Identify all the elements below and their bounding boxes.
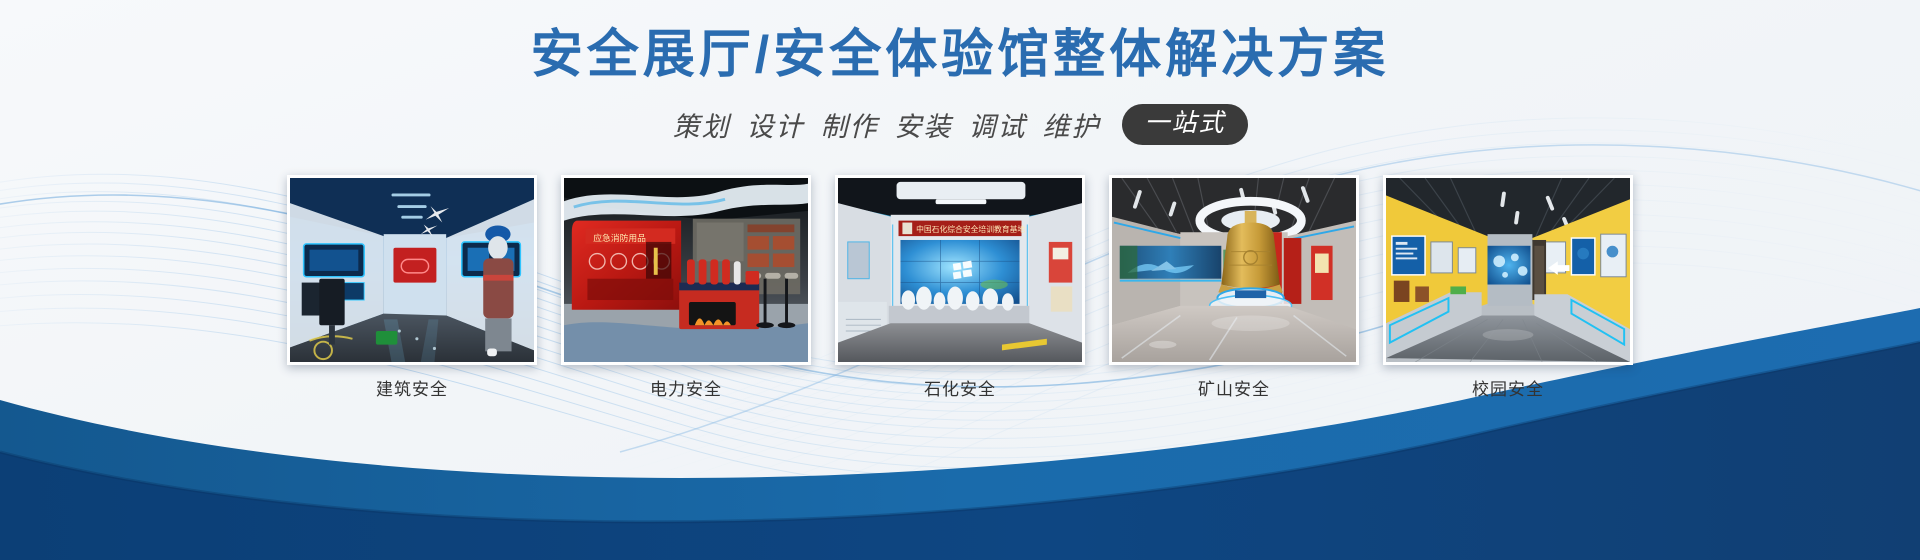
case-thumbnail-petrochemical[interactable]: 中国石化综合安全培训教育基地 (835, 175, 1085, 365)
case-card-mining[interactable]: 矿山安全 (1109, 175, 1359, 400)
case-card-campus[interactable]: 校园安全 (1383, 175, 1633, 400)
case-caption-mining: 矿山安全 (1198, 380, 1270, 400)
case-thumbnail-row: 建筑安全 (287, 175, 1633, 400)
service-step-install: 安装 (894, 105, 952, 144)
campus-hall-image (1386, 178, 1630, 362)
service-step-maintain: 维护 (1042, 105, 1100, 144)
petrochemical-hall-image: 中国石化综合安全培训教育基地 (838, 178, 1082, 362)
service-steps: 策划 设计 制作 安装 调试 维护 一站式 (672, 104, 1247, 146)
case-card-petrochemical[interactable]: 中国石化综合安全培训教育基地 (835, 175, 1085, 400)
case-thumbnail-mining[interactable] (1109, 175, 1359, 365)
case-caption-electric: 电力安全 (650, 380, 722, 400)
case-card-electric[interactable]: 应急消防用品 (561, 175, 811, 400)
electric-hall-image: 应急消防用品 (564, 178, 808, 362)
service-step-debug: 调试 (968, 105, 1026, 144)
svg-text:中国石化综合安全培训教育基地: 中国石化综合安全培训教育基地 (916, 225, 1025, 235)
service-step-production: 制作 (820, 105, 878, 144)
promo-banner: 安全展厅/安全体验馆整体解决方案 策划 设计 制作 安装 调试 维护 一站式 (0, 0, 1920, 560)
case-caption-construction: 建筑安全 (376, 380, 448, 400)
banner-content: 安全展厅/安全体验馆整体解决方案 策划 设计 制作 安装 调试 维护 一站式 (0, 0, 1920, 560)
page-title: 安全展厅/安全体验馆整体解决方案 (531, 26, 1389, 86)
case-thumbnail-construction[interactable] (287, 175, 537, 365)
case-thumbnail-electric[interactable]: 应急消防用品 (561, 175, 811, 365)
case-thumbnail-campus[interactable] (1383, 175, 1633, 365)
mining-hall-image (1112, 178, 1356, 362)
case-caption-campus: 校园安全 (1472, 380, 1544, 400)
case-caption-petrochemical: 石化安全 (924, 380, 996, 400)
one-stop-badge: 一站式 (1122, 104, 1247, 146)
case-card-construction[interactable]: 建筑安全 (287, 175, 537, 400)
construction-hall-image (290, 178, 534, 362)
service-step-planning: 策划 (672, 105, 730, 144)
svg-text:应急消防用品: 应急消防用品 (593, 232, 646, 243)
service-step-design: 设计 (746, 105, 804, 144)
